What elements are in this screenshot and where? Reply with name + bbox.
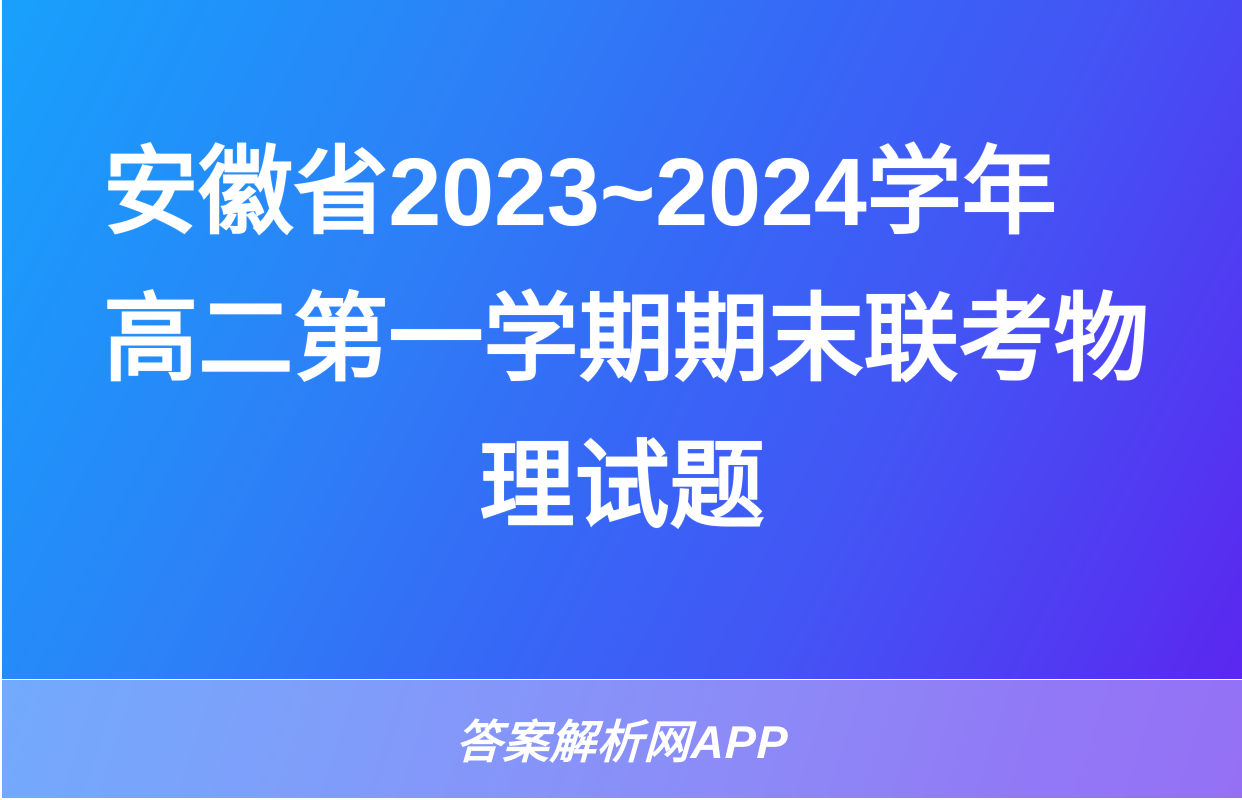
brand-label: 答案解析网APP xyxy=(455,706,790,772)
page-title-line-3: 理试题 xyxy=(103,413,1141,560)
exam-title-card: 安徽省2023~2024学年 高二第一学期期末联考物 理试题 答案解析网APP xyxy=(0,0,1242,800)
footer-brand-bar: 答案解析网APP xyxy=(2,680,1242,798)
page-title: 安徽省2023~2024学年 高二第一学期期末联考物 理试题 xyxy=(2,0,1242,679)
page-title-line-2: 高二第一学期期末联考物 xyxy=(103,266,1141,413)
page-title-line-1: 安徽省2023~2024学年 xyxy=(103,119,1141,266)
hero-gradient-panel: 安徽省2023~2024学年 高二第一学期期末联考物 理试题 xyxy=(2,0,1242,679)
